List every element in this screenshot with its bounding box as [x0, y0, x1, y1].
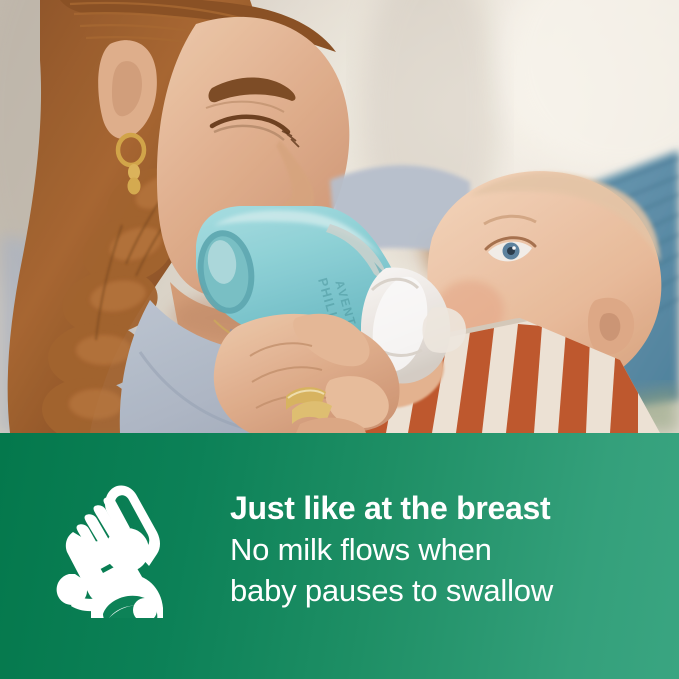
feature-callout-panel: Just like at the breast No milk flows wh… [0, 433, 679, 679]
icon-artwork [45, 478, 185, 618]
product-feature-banner: AVENT PHILIPS [0, 0, 679, 679]
callout-subline-2: baby pauses to swallow [230, 570, 660, 611]
callout-text-block: Just like at the breast No milk flows wh… [230, 487, 660, 611]
hero-photo: AVENT PHILIPS [0, 0, 679, 433]
bottle-feeding-like-breast-icon [45, 478, 185, 618]
callout-subline-1: No milk flows when [230, 529, 660, 570]
hero-photo-illustration: AVENT PHILIPS [0, 0, 679, 433]
callout-headline: Just like at the breast [230, 487, 660, 529]
